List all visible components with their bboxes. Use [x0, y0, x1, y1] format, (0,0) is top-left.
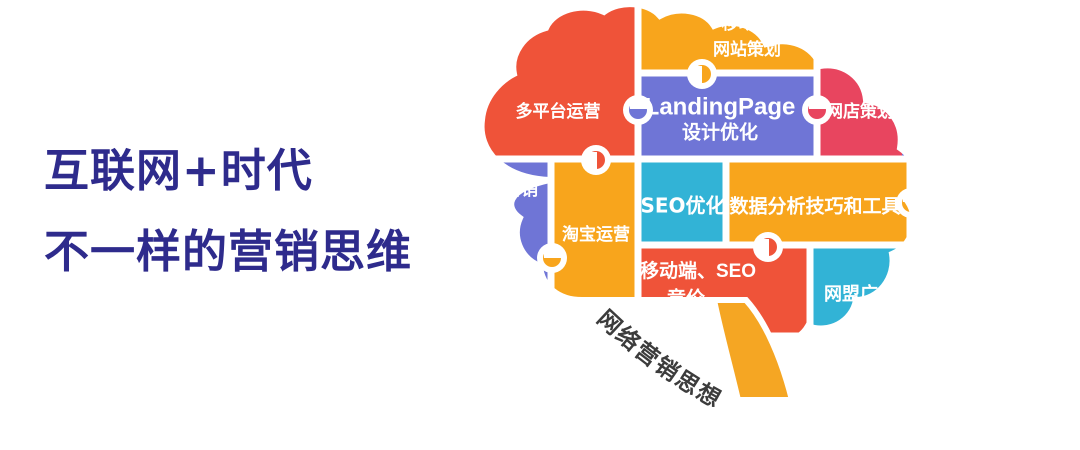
piece-label-ying-xiao: 营销	[938, 292, 970, 311]
piece-label-wei-xin-wei-bo: 微信/微博	[918, 272, 972, 291]
puzzle-piece-wei-xin-wei-bo-ying-xiao[interactable]: 微信/微博 营销	[913, 250, 972, 368]
headline-line-2: 不一样的营销思维	[44, 229, 464, 274]
piece-label-landing-page: LandingPage	[645, 93, 796, 120]
piece-label-shu-ju-fen-xi: 数据分析技巧和工具	[729, 195, 900, 218]
piece-label-yi-dong-duan-seo: 移动端、SEO	[640, 259, 756, 282]
piece-label-tao-bao-yun-ying: 淘宝运营	[562, 224, 630, 245]
brain-caption: 网络营销思想	[592, 306, 726, 414]
puzzle-piece-shu-ju-fen-xi[interactable]: 数据分析技巧和工具	[729, 162, 909, 244]
headline-block: 互联网+时代 不一样的营销思维	[44, 148, 464, 274]
watermark-logo	[840, 334, 916, 372]
puzzle-piece-bai-du-jing-jia[interactable]: 百度竞价	[913, 150, 972, 246]
piece-label-seo-you-hua: SEO优化	[640, 194, 725, 218]
brain-puzzle-diagram: 多平台运营 移动端 网站策划 LandingPage 设计优化 网	[462, 0, 972, 450]
slide-canvas: 互联网+时代 不一样的营销思维 多平台运营	[0, 0, 1080, 450]
puzzle-piece-seo-you-hua[interactable]: SEO优化	[640, 162, 725, 244]
headline-line-1: 互联网+时代	[44, 148, 464, 193]
piece-label-bai-du-jing-jia: 百度竞价	[920, 219, 972, 240]
brain-caption-text: 网络营销思想	[592, 306, 726, 414]
puzzle-piece-tao-bao-yun-ying[interactable]: 淘宝运营	[554, 162, 637, 310]
puzzle-piece-wang-dian-ce-hua[interactable]: 网店策划	[820, 0, 920, 158]
piece-label-she-ji-you-hua: 设计优化	[682, 121, 758, 144]
puzzle-piece-landing-page[interactable]: LandingPage 设计优化	[641, 76, 816, 158]
piece-label-duo-ping-tai-yun-ying: 多平台运营	[516, 101, 601, 122]
